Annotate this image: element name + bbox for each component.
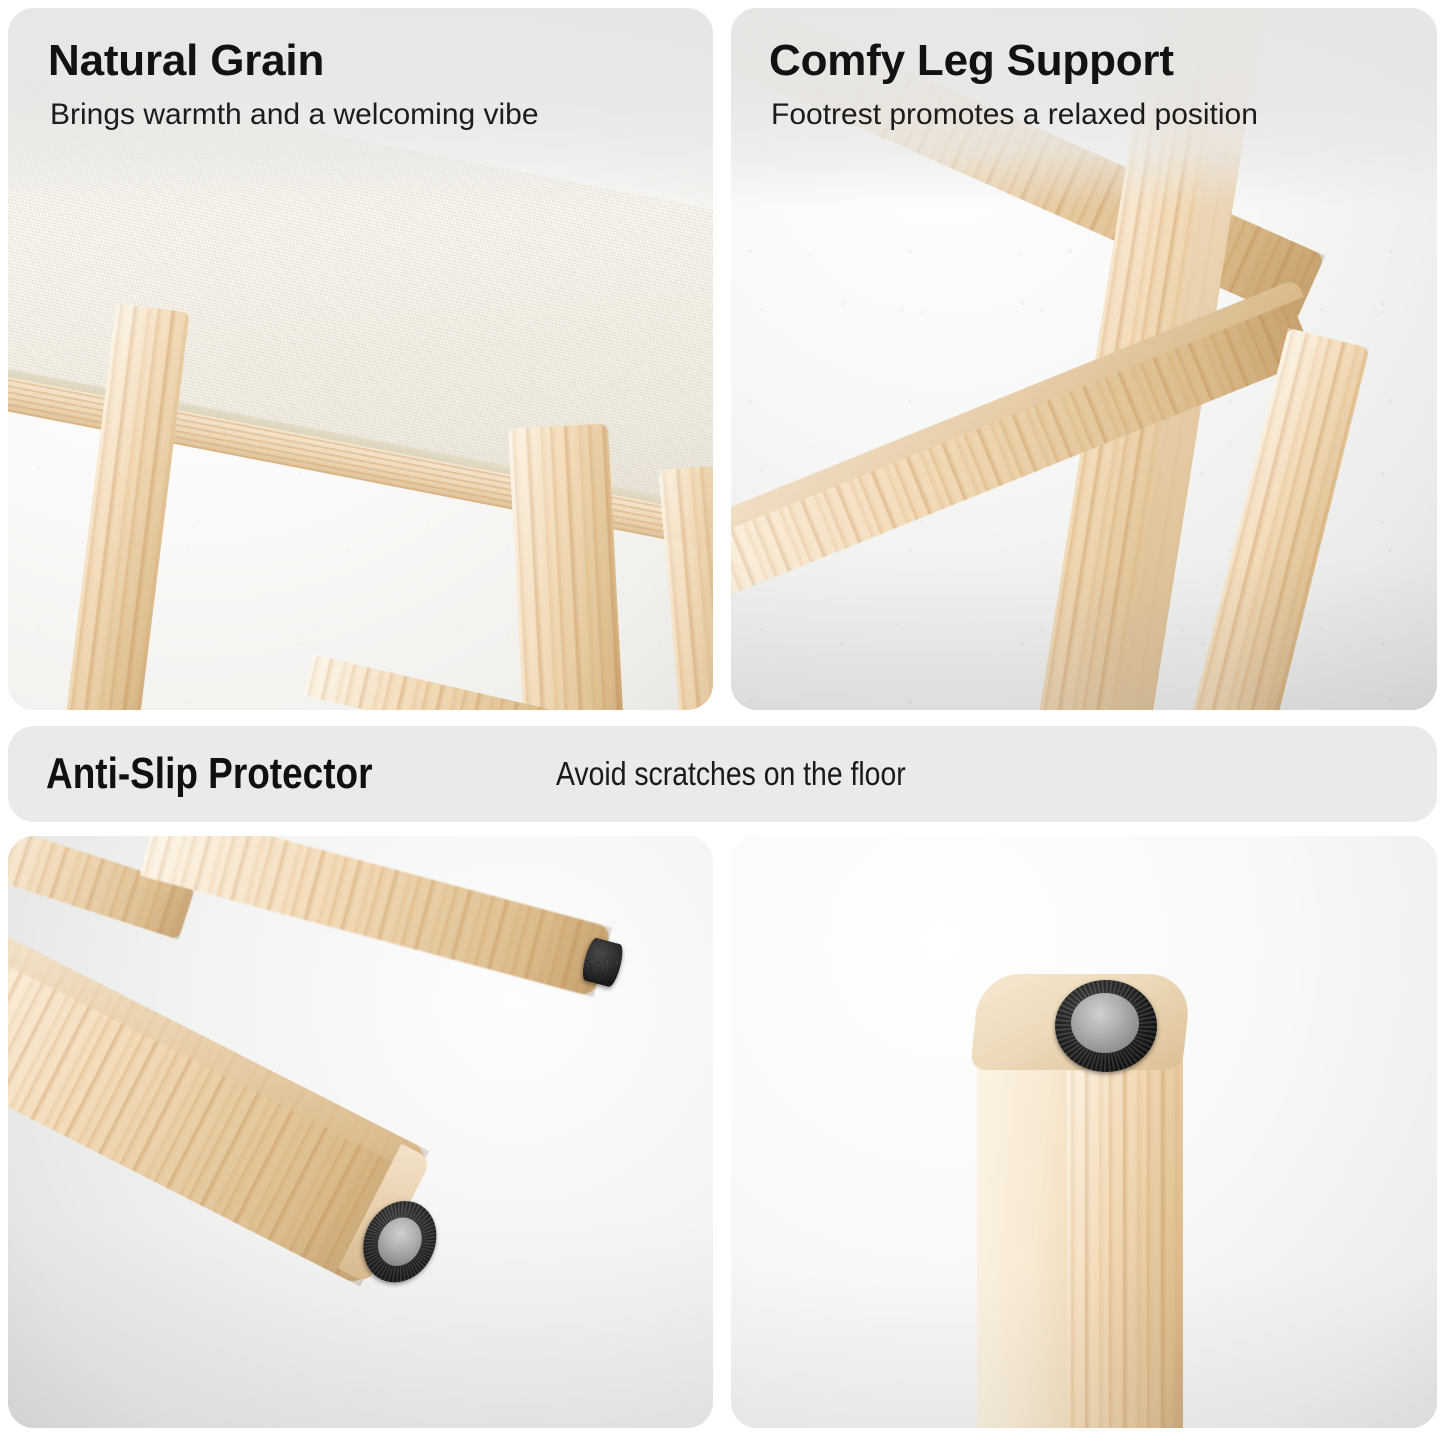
- panel-subtitle-natural-grain: Brings warmth and a welcoming vibe: [50, 98, 539, 132]
- feature-panel-natural-grain: Natural Grain Brings warmth and a welcom…: [8, 8, 713, 710]
- banner-subtitle: Avoid scratches on the floor: [556, 755, 906, 793]
- feature-panel-anti-slip-legs: [8, 836, 713, 1428]
- anti-slip-cap-foot-metal: [1071, 993, 1139, 1053]
- panel-subtitle-comfy-leg-support: Footrest promotes a relaxed position: [771, 98, 1258, 132]
- photo-anti-slip-foot: [731, 836, 1437, 1428]
- banner-title: Anti-Slip Protector: [46, 749, 372, 799]
- panel-title-comfy-leg-support: Comfy Leg Support: [769, 36, 1174, 86]
- feature-panel-anti-slip-foot: [731, 836, 1437, 1428]
- feature-banner-anti-slip: Anti-Slip Protector Avoid scratches on t…: [8, 726, 1437, 822]
- feature-panel-comfy-leg-support: Comfy Leg Support Footrest promotes a re…: [731, 8, 1437, 710]
- photo-anti-slip-legs: [8, 836, 713, 1428]
- panel-title-natural-grain: Natural Grain: [48, 36, 324, 86]
- feature-collage: Natural Grain Brings warmth and a welcom…: [0, 0, 1445, 1445]
- anti-slip-cap-foot: [1055, 980, 1157, 1072]
